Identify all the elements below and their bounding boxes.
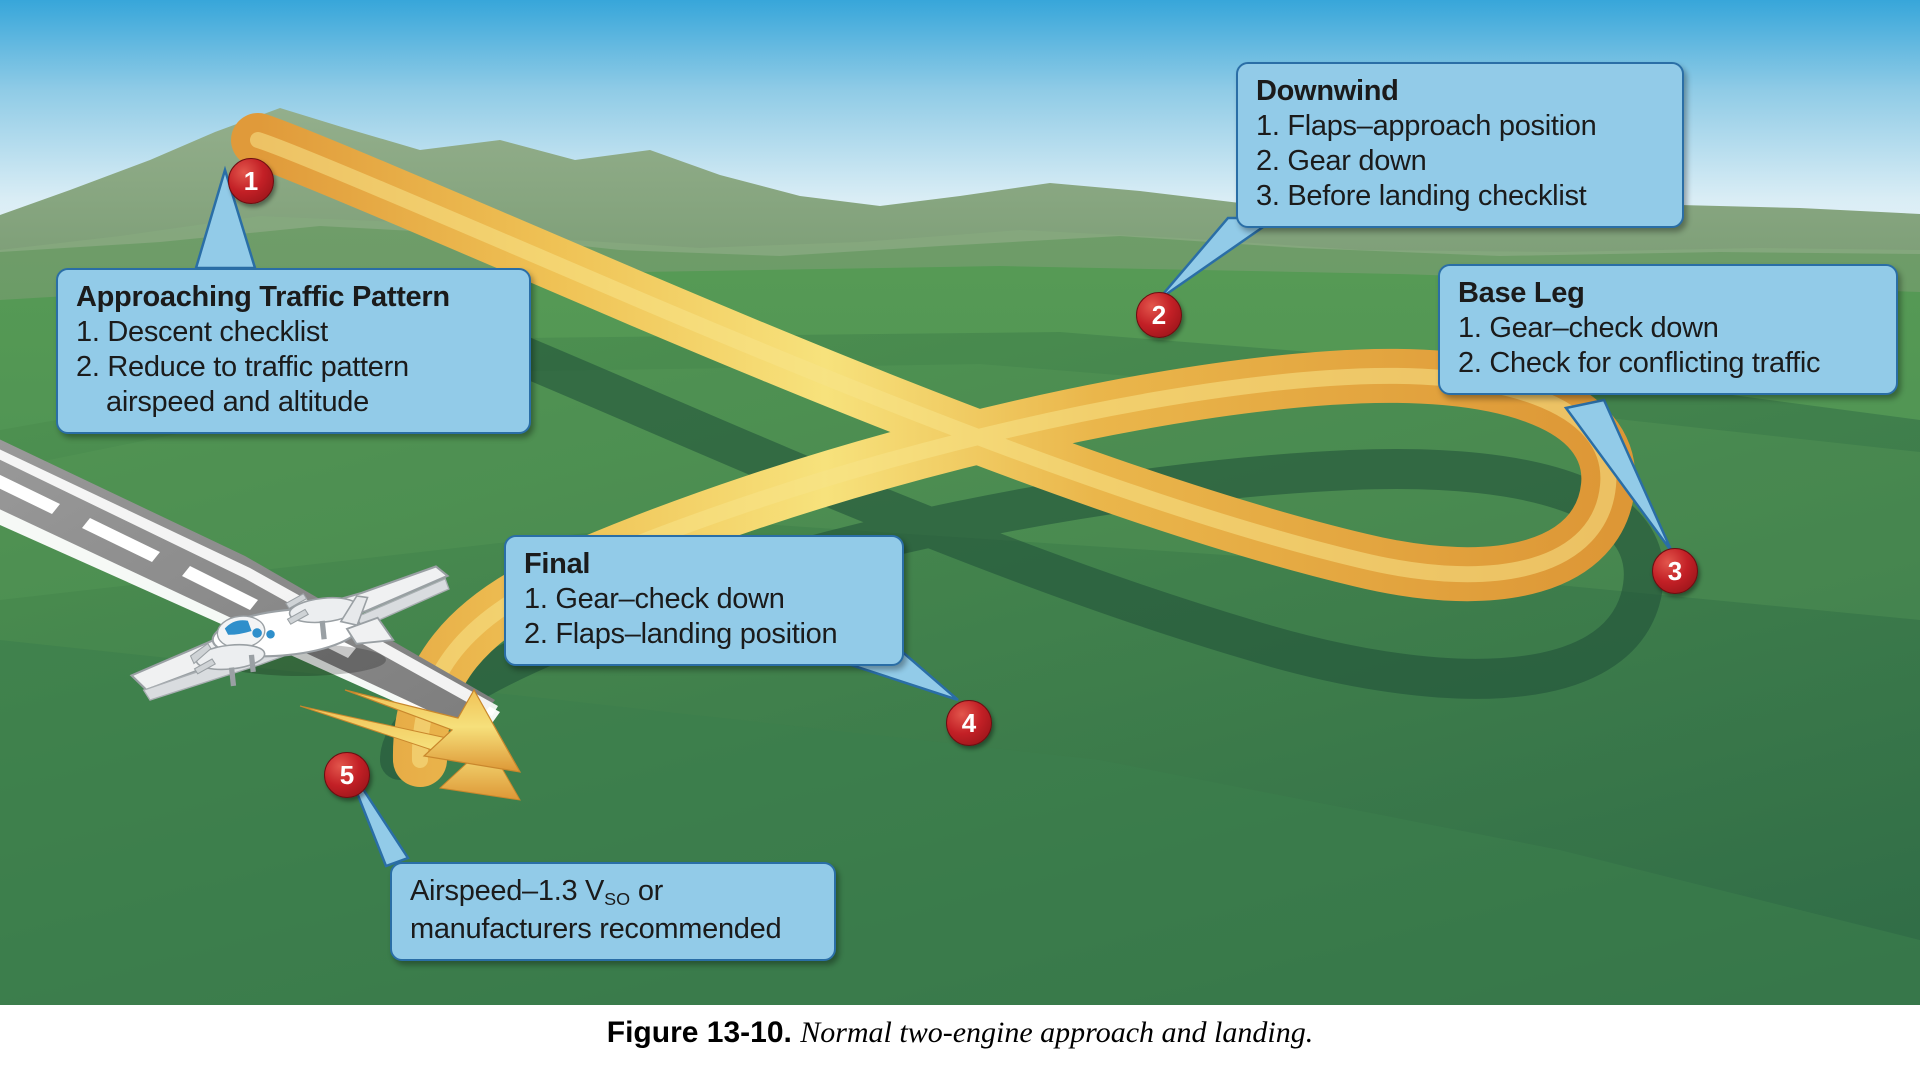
callout-title: Base Leg xyxy=(1458,276,1878,311)
callout-line: manufacturers recommended xyxy=(410,912,816,947)
callout-downwind[interactable]: Downwind 1. Flaps–approach position 2. G… xyxy=(1236,62,1684,228)
callout-title: Approaching Traffic Pattern xyxy=(76,280,511,315)
callout-base-leg[interactable]: Base Leg 1. Gear–check down 2. Check for… xyxy=(1438,264,1898,395)
callout-line: 1. Flaps–approach position xyxy=(1256,109,1664,144)
callout-final[interactable]: Final 1. Gear–check down 2. Flaps–landin… xyxy=(504,535,904,666)
callout-line: 1. Gear–check down xyxy=(1458,311,1878,346)
callout-title: Final xyxy=(524,547,884,582)
vso-subscript: SO xyxy=(604,889,630,909)
callout-line: 2. Check for conflicting traffic xyxy=(1458,346,1878,381)
callout-title: Downwind xyxy=(1256,74,1664,109)
figure-caption-text: Normal two-engine approach and landing. xyxy=(800,1016,1313,1049)
marker-4[interactable]: 4 xyxy=(946,700,992,746)
callout-line: 3. Before landing checklist xyxy=(1256,179,1664,214)
marker-5[interactable]: 5 xyxy=(324,752,370,798)
figure-caption: Figure 13-10. Normal two-engine approach… xyxy=(0,1016,1920,1050)
figure-container: Approaching Traffic Pattern 1. Descent c… xyxy=(0,0,1920,1078)
callout-line: 2. Flaps–landing position xyxy=(524,617,884,652)
callout-approaching-traffic-pattern[interactable]: Approaching Traffic Pattern 1. Descent c… xyxy=(56,268,531,434)
callout-airspeed[interactable]: Airspeed–1.3 VSO or manufacturers recomm… xyxy=(390,862,836,961)
callout-line: 1. Gear–check down xyxy=(524,582,884,617)
marker-2[interactable]: 2 xyxy=(1136,292,1182,338)
airspeed-trailing: or xyxy=(630,875,663,907)
callout-line-airspeed: Airspeed–1.3 VSO or xyxy=(410,874,816,912)
callout-line: airspeed and altitude xyxy=(76,385,511,420)
figure-number: Figure 13-10. xyxy=(607,1016,792,1049)
illustration-scene: Approaching Traffic Pattern 1. Descent c… xyxy=(0,0,1920,1005)
marker-1[interactable]: 1 xyxy=(228,158,274,204)
callout-line: 2. Gear down xyxy=(1256,144,1664,179)
callout-line: 1. Descent checklist xyxy=(76,315,511,350)
airspeed-text: Airspeed–1.3 V xyxy=(410,875,604,907)
callout-line: 2. Reduce to traffic pattern xyxy=(76,350,511,385)
marker-3[interactable]: 3 xyxy=(1652,548,1698,594)
